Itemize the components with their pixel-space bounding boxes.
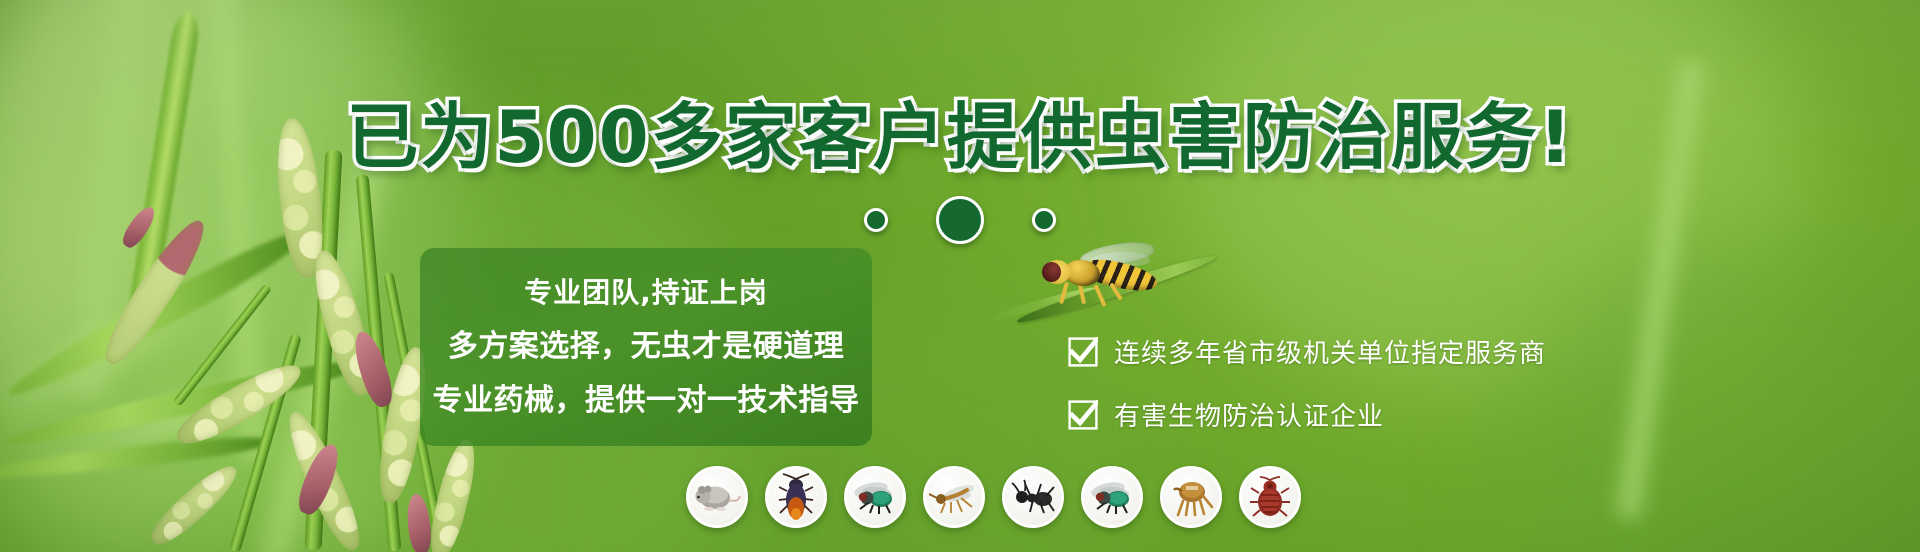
checkbox-checked-icon: [1068, 400, 1098, 430]
dot-small-right: [1032, 208, 1056, 232]
credentials-checklist: 连续多年省市级机关单位指定服务商 有害生物防治认证企业: [1068, 333, 1546, 433]
banner-headline-text: 已为500多家客户提供虫害防治服务!: [346, 95, 1573, 179]
mosquito-glyph: [926, 469, 982, 525]
selling-point-line-3: 专业药械，提供一对一技术指导: [433, 375, 860, 419]
checklist-item: 连续多年省市级机关单位指定服务商: [1068, 333, 1546, 370]
ant-icon[interactable]: [1002, 466, 1064, 528]
pest-type-icons: [686, 466, 1301, 528]
selling-points-panel: 专业团队,持证上岗 多方案选择，无虫才是硬道理 专业药械，提供一对一技术指导: [420, 248, 872, 446]
cockroach-glyph: [768, 469, 824, 525]
housefly-icon[interactable]: [844, 466, 906, 528]
banner-headline: 已为500多家客户提供虫害防治服务!: [0, 78, 1920, 183]
checklist-item-label: 连续多年省市级机关单位指定服务商: [1114, 333, 1546, 370]
decorative-dots: [0, 196, 1920, 244]
checkbox-checked-icon: [1068, 337, 1098, 367]
checklist-item-label: 有害生物防治认证企业: [1114, 396, 1384, 433]
ant-glyph: [1005, 469, 1061, 525]
checklist-item: 有害生物防治认证企业: [1068, 396, 1546, 433]
flea-icon[interactable]: [1160, 466, 1222, 528]
pest-control-hero-banner: 已为500多家客户提供虫害防治服务! 专业团队,持证上岗 多方案选择，无虫才是硬…: [0, 0, 1920, 552]
dot-large-center: [936, 196, 984, 244]
selling-point-line-1: 专业团队,持证上岗: [524, 271, 768, 311]
housefly-glyph: [847, 469, 903, 525]
bedbug-icon[interactable]: [1239, 466, 1301, 528]
blowfly-icon[interactable]: [1081, 466, 1143, 528]
rodent-glyph: [689, 469, 745, 525]
banner-content: 已为500多家客户提供虫害防治服务! 专业团队,持证上岗 多方案选择，无虫才是硬…: [0, 0, 1920, 552]
cockroach-icon[interactable]: [765, 466, 827, 528]
rodent-icon[interactable]: [686, 466, 748, 528]
mosquito-icon[interactable]: [923, 466, 985, 528]
flea-glyph: [1163, 469, 1219, 525]
blowfly-glyph: [1084, 469, 1140, 525]
dot-small-left: [864, 208, 888, 232]
selling-point-line-2: 多方案选择，无虫才是硬道理: [448, 321, 845, 365]
bedbug-glyph: [1242, 469, 1298, 525]
